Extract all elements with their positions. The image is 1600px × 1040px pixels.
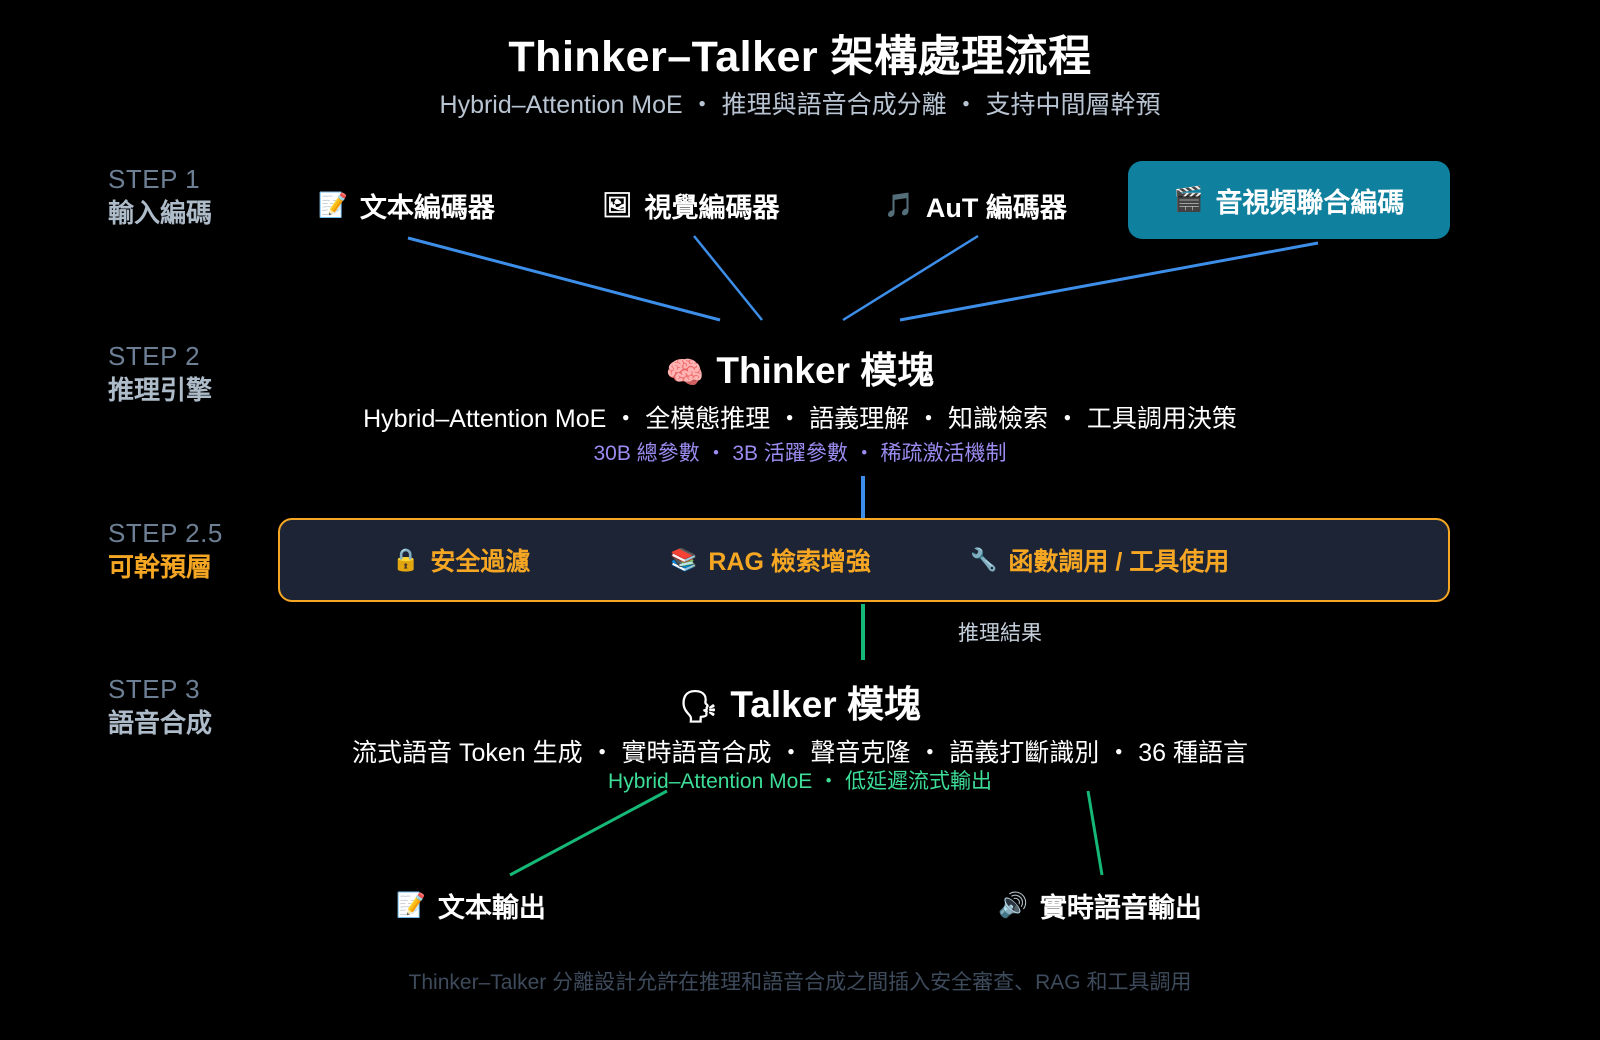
encoder-vision[interactable]: 🖼 視覺編碼器	[602, 186, 779, 225]
wire-talker-to-speech-output	[1088, 791, 1102, 875]
talker-meta: Hybrid–Attention MoE ・ 低延遲流式輸出	[0, 765, 1600, 795]
intercept-layer-panel: 🔒 安全過濾 📚 RAG 檢索增強 🔧 函數調用 / 工具使用	[278, 518, 1450, 602]
thinker-module-title[interactable]: 🧠Thinker 模塊	[0, 340, 1600, 394]
step-label-1-title: STEP 1	[108, 162, 212, 196]
talker-description: 流式語音 Token 生成 ・ 實時語音合成 ・ 聲音克隆 ・ 語義打斷識別 ・…	[0, 733, 1600, 769]
encoder-audio-video-label: 音視頻聯合編碼	[1215, 181, 1404, 220]
speaker-loud-icon: 🔊	[998, 891, 1028, 920]
memo-icon: 📝	[396, 891, 426, 920]
talker-module-title[interactable]: 🗣Talker 模塊	[0, 674, 1600, 728]
output-speech-label: 實時語音輸出	[1040, 886, 1202, 925]
output-speech[interactable]: 🔊 實時語音輸出	[998, 886, 1202, 925]
step-label-1: STEP 1 輸入編碼	[108, 162, 212, 230]
edge-label-reasoning-result: 推理結果	[958, 617, 1042, 647]
speaking-head-icon: 🗣	[679, 689, 718, 724]
books-icon: 📚	[670, 547, 697, 573]
step-label-25-title: STEP 2.5	[108, 516, 223, 550]
brain-icon: 🧠	[666, 355, 705, 390]
encoder-vision-label: 視覺編碼器	[644, 186, 779, 225]
wire-text-encoder	[408, 238, 720, 320]
encoder-audio-video[interactable]: 🎬 音視頻聯合編碼	[1128, 161, 1450, 239]
diagram-canvas: Thinker–Talker 架構處理流程 Hybrid–Attention M…	[0, 0, 1600, 1040]
memo-icon: 📝	[318, 194, 348, 218]
thinker-meta: 30B 總參數 ・ 3B 活躍參數 ・ 稀疏激活機制	[0, 437, 1600, 467]
clapper-board-icon: 🎬	[1174, 188, 1204, 212]
intercept-item-safety[interactable]: 🔒 安全過濾	[392, 542, 530, 578]
output-text-label: 文本輸出	[438, 886, 546, 925]
talker-title-text: Talker 模塊	[730, 684, 921, 725]
wire-talker-to-text-output	[510, 791, 667, 875]
wire-aut-encoder	[843, 236, 978, 320]
encoder-text[interactable]: 📝 文本編碼器	[318, 186, 495, 225]
picture-icon: 🖼	[602, 194, 632, 218]
lock-icon: 🔒	[392, 547, 419, 573]
intercept-item-rag-label: RAG 檢索增強	[708, 542, 871, 578]
thinker-description: Hybrid–Attention MoE ・ 全模態推理 ・ 語義理解 ・ 知識…	[0, 399, 1600, 435]
encoder-aut[interactable]: 🎵 AuT 編碼器	[884, 186, 1067, 225]
musical-note-icon: 🎵	[884, 194, 914, 218]
wrench-icon: 🔧	[970, 547, 997, 573]
step-label-1-sub: 輸入編碼	[108, 196, 212, 230]
intercept-item-tools-label: 函數調用 / 工具使用	[1008, 542, 1229, 578]
output-text[interactable]: 📝 文本輸出	[396, 886, 546, 925]
wire-vision-encoder	[694, 236, 762, 320]
encoder-text-label: 文本編碼器	[360, 186, 495, 225]
wire-av-encoder	[900, 243, 1318, 320]
intercept-item-tools[interactable]: 🔧 函數調用 / 工具使用	[970, 542, 1229, 578]
footer-note: Thinker–Talker 分離設計允許在推理和語音合成之間插入安全審查、RA…	[0, 966, 1600, 996]
intercept-item-rag[interactable]: 📚 RAG 檢索增強	[670, 542, 871, 578]
encoder-aut-label: AuT 編碼器	[926, 186, 1067, 225]
thinker-title-text: Thinker 模塊	[716, 350, 934, 391]
step-label-25-sub: 可幹預層	[108, 550, 223, 584]
intercept-item-safety-label: 安全過濾	[430, 542, 530, 578]
step-label-25: STEP 2.5 可幹預層	[108, 516, 223, 584]
